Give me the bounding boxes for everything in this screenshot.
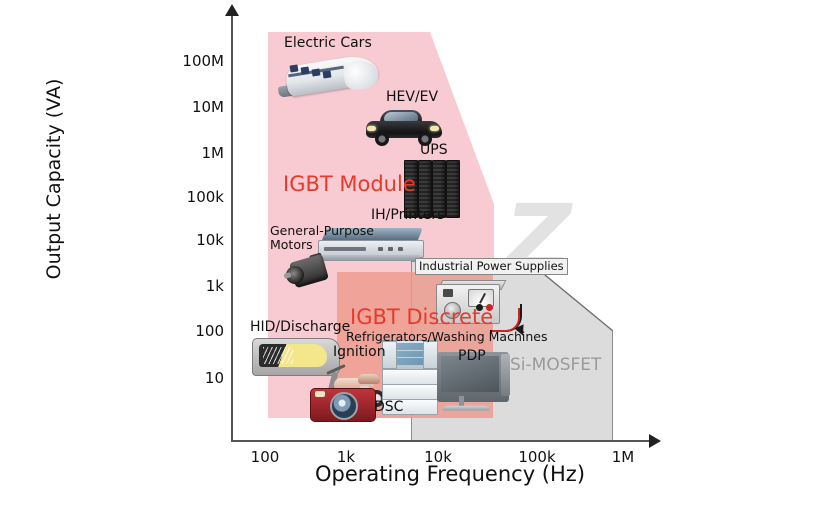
y-axis-line — [231, 14, 233, 442]
item-label-electric-cars: Electric Cars — [284, 36, 372, 52]
y-tick-1M: 1M — [154, 144, 224, 162]
x-axis-line — [232, 440, 652, 442]
item-label-hid-discharge: HID/Discharge — [250, 320, 350, 336]
region-label-igbt-module: IGBT Module — [283, 172, 416, 196]
y-tick-10: 10 — [154, 369, 224, 387]
y-tick-100k: 100k — [154, 188, 224, 206]
gpm-line-1: General-Purpose — [270, 223, 374, 238]
gpm-line-2: Motors — [270, 237, 313, 252]
region-label-igbt-discrete: IGBT Discrete — [350, 305, 493, 329]
item-label-ih-printers: IH/Printers — [371, 208, 444, 224]
y-axis-title: Output Capacity (VA) — [43, 49, 65, 309]
item-label-pdp: PDP — [458, 349, 486, 365]
item-label-hev-ev: HEV/EV — [386, 90, 438, 106]
electric-cars-icon — [268, 52, 380, 100]
region-label-si-mosfet: Si-MOSFET — [510, 355, 601, 375]
item-label-ignition: Ignition — [333, 345, 386, 361]
y-tick-1k: 1k — [154, 277, 224, 295]
chart-canvas: GNSZ 平赫弦 — [0, 0, 820, 508]
y-tick-100: 100 — [154, 322, 224, 340]
dsc-camera-icon — [310, 386, 374, 422]
y-tick-10k: 10k — [154, 231, 224, 249]
item-label-dsc: DSC — [374, 400, 403, 416]
y-tick-100M: 100M — [154, 52, 224, 70]
item-label-refrigerators-washing: Refrigerators/Washing Machines — [346, 330, 547, 344]
x-axis-arrow-icon — [649, 434, 661, 448]
item-label-general-purpose-motors: General-Purpose Motors — [270, 224, 374, 252]
y-axis-arrow-icon — [225, 4, 239, 16]
x-axis-title: Operating Frequency (Hz) — [250, 462, 650, 486]
item-label-ups: UPS — [420, 143, 448, 159]
item-label-industrial-power-supplies: Industrial Power Supplies — [415, 258, 568, 275]
general-purpose-motor-icon — [284, 252, 332, 292]
y-tick-10M: 10M — [154, 98, 224, 116]
